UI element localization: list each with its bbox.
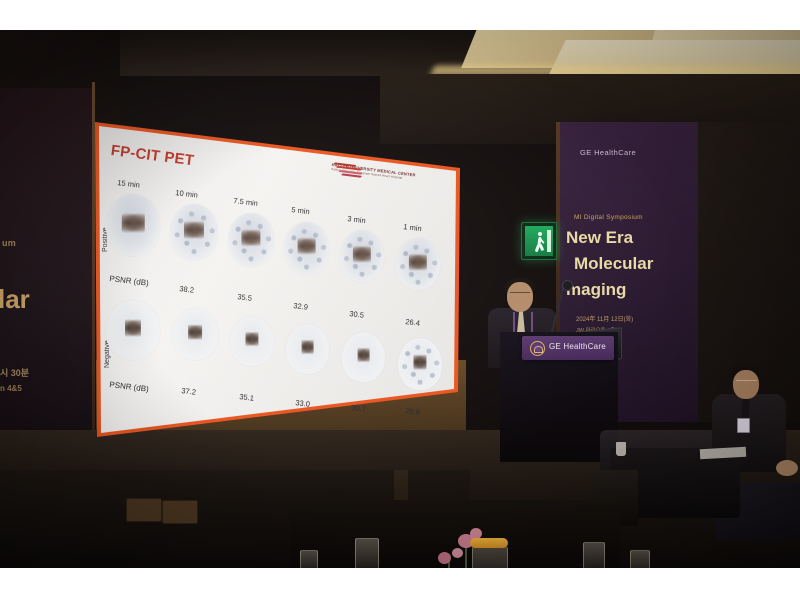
microphone-icon [562, 280, 573, 291]
panelist-badge [737, 418, 750, 433]
psnr-value-negative-5: 26.6 [405, 406, 421, 417]
right-banner-brand: GE HealthCare [580, 148, 636, 157]
psnr-label-positive: PSNR (dB) [109, 274, 149, 288]
pet-image-negative-0 [106, 300, 160, 360]
psnr-value-positive-1: 38.2 [179, 284, 195, 295]
pet-image-positive-3 [284, 222, 329, 275]
right-banner-title-line1: New Era [566, 228, 633, 248]
pet-image-negative-5 [398, 338, 442, 390]
column-header-3: 5 min [291, 205, 310, 216]
right-banner-title-line3: maging [566, 280, 626, 300]
wall-socket [126, 498, 162, 522]
left-banner-detail-2: n 4&5 [0, 384, 22, 393]
left-banner-eyebrow: um [2, 238, 16, 248]
pet-image-negative-1 [172, 308, 218, 360]
pet-image-positive-0 [106, 194, 160, 256]
screenshot-root: um lar 시 30분 n 4&5 FP-CIT PET HALLYM UNI… [0, 0, 800, 600]
column-header-2: 7.5 min [233, 196, 259, 208]
left-banner-partial: um lar 시 30분 n 4&5 [0, 88, 92, 438]
letterbox-top [0, 0, 800, 30]
psnr-value-negative-1: 37.2 [181, 386, 197, 397]
pet-image-positive-1 [170, 204, 218, 260]
podium-sign: GE HealthCare [522, 336, 614, 360]
right-banner-eyebrow: MI Digital Symposium [574, 214, 643, 221]
exit-sign-face [525, 226, 553, 256]
podium-sign-text: GE HealthCare [549, 342, 606, 351]
pet-image-positive-5 [396, 238, 440, 290]
ge-monogram-logo [530, 341, 545, 356]
pet-image-negative-4 [342, 332, 385, 382]
psnr-label-negative: PSNR (dB) [109, 380, 149, 394]
flower [452, 548, 463, 558]
psnr-value-negative-4: 30.7 [351, 403, 367, 414]
psnr-value-positive-2: 35.5 [237, 292, 253, 303]
wall-socket [162, 500, 198, 524]
wine-glass [300, 550, 318, 568]
pet-image-negative-3 [286, 324, 329, 374]
left-banner-title: lar [0, 284, 30, 315]
presentation-slide: FP-CIT PET HALLYM UNIVERSITY MEDICAL CEN… [86, 92, 462, 442]
psnr-value-positive-4: 30.5 [349, 309, 365, 320]
flower-stem [465, 546, 467, 568]
psnr-value-positive-3: 32.9 [293, 301, 309, 312]
wine-glass [583, 542, 605, 568]
conference-photo: um lar 시 30분 n 4&5 FP-CIT PET HALLYM UNI… [0, 30, 800, 568]
running-man-icon [535, 232, 544, 252]
psnr-value-positive-5: 26.4 [405, 317, 421, 328]
panelist-glasses [736, 380, 757, 386]
psnr-value-negative-2: 35.1 [239, 392, 255, 403]
presenter-glasses [510, 292, 530, 298]
column-header-5: 1 min [403, 222, 422, 233]
left-banner-detail-1: 시 30분 [0, 366, 29, 379]
panel-cup [616, 442, 626, 456]
column-header-1: 10 min [175, 188, 198, 200]
wine-glass [355, 538, 379, 568]
pet-image-negative-2 [230, 316, 274, 366]
exit-door-icon [547, 230, 551, 252]
exit-sign [521, 222, 557, 260]
pet-image-positive-4 [340, 230, 384, 282]
panelist-hand [776, 460, 798, 476]
glass-jar [472, 546, 508, 568]
column-header-0: 15 min [117, 178, 140, 190]
column-header-4: 3 min [347, 214, 366, 225]
right-banner-title-line2: Molecular [574, 254, 653, 274]
flower [438, 552, 451, 564]
letterbox-bottom [0, 568, 800, 600]
jar-lid [470, 538, 508, 548]
pet-image-positive-2 [228, 213, 274, 267]
wine-glass [630, 550, 650, 568]
hallym-logo: HALLYM UNIVERSITY MEDICAL CENTER Hallym … [331, 162, 416, 182]
right-banner-detail-1: 2024年 11月 12日(화) [576, 314, 633, 323]
psnr-value-negative-3: 33.0 [295, 398, 311, 409]
slide-title: FP-CIT PET [110, 142, 195, 169]
